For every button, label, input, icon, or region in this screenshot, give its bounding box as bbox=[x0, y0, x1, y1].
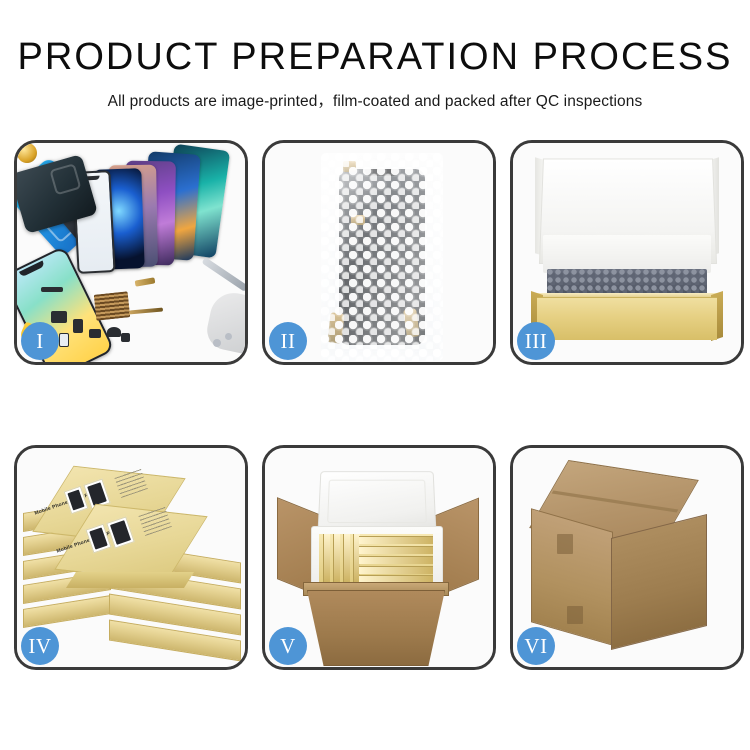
page-subtitle: All products are image-printed，film-coat… bbox=[0, 89, 750, 111]
carton-right-face bbox=[611, 514, 707, 650]
step-badge-4: IV bbox=[21, 627, 59, 665]
box-front-panel bbox=[537, 297, 717, 340]
retail-box-edge-front bbox=[66, 572, 194, 588]
screw-2 bbox=[225, 333, 232, 340]
page-header: PRODUCT PREPARATION PROCESS All products… bbox=[0, 0, 750, 111]
step-panel-sealed-shipping-carton[interactable]: VI bbox=[510, 445, 744, 670]
logic-board-component bbox=[94, 291, 131, 320]
step-panel-phone-parts-assortment[interactable]: I bbox=[14, 140, 248, 365]
bubble-wrap-film bbox=[321, 153, 443, 361]
carton-tape-upper bbox=[557, 534, 573, 554]
chip-component-7 bbox=[121, 333, 130, 342]
step-panel-bubble-wrapped-screen[interactable]: II bbox=[262, 140, 496, 365]
carton-tape-lower bbox=[567, 606, 583, 624]
carton-left-face bbox=[531, 508, 613, 646]
yellow-boxes-inside bbox=[319, 534, 433, 582]
step-panel-styrofoam-carton-loading[interactable]: V bbox=[262, 445, 496, 670]
step-badge-5: V bbox=[269, 627, 307, 665]
chip-component-5 bbox=[89, 329, 101, 338]
step-badge-1: I bbox=[21, 322, 59, 360]
sim-tray bbox=[59, 333, 69, 347]
step-badge-6: VI bbox=[517, 627, 555, 665]
step-badge-2: II bbox=[269, 322, 307, 360]
step-badge-3: III bbox=[517, 322, 555, 360]
chip-component-4 bbox=[73, 319, 83, 333]
speaker-component bbox=[17, 143, 37, 163]
page-title: PRODUCT PREPARATION PROCESS bbox=[0, 38, 750, 78]
carton-front-panel bbox=[307, 590, 445, 666]
chip-component-1 bbox=[41, 287, 63, 292]
screw-1 bbox=[213, 339, 221, 347]
flex-cable-1 bbox=[129, 308, 163, 315]
chip-component-6 bbox=[107, 327, 121, 337]
tweezer-tool bbox=[201, 257, 245, 292]
process-steps-grid: I II bbox=[14, 140, 744, 670]
white-foam-sheet bbox=[543, 235, 711, 273]
step-panel-stacked-retail-boxes[interactable]: Mobile Phone Spare Parts Mobile Phone Sp… bbox=[14, 445, 248, 670]
styrofoam-lid bbox=[318, 471, 437, 532]
hand-holding-part bbox=[203, 289, 245, 356]
step-panel-foam-lined-inner-box[interactable]: III bbox=[510, 140, 744, 365]
chip-component-2 bbox=[135, 277, 156, 286]
chip-component-3 bbox=[51, 311, 67, 323]
